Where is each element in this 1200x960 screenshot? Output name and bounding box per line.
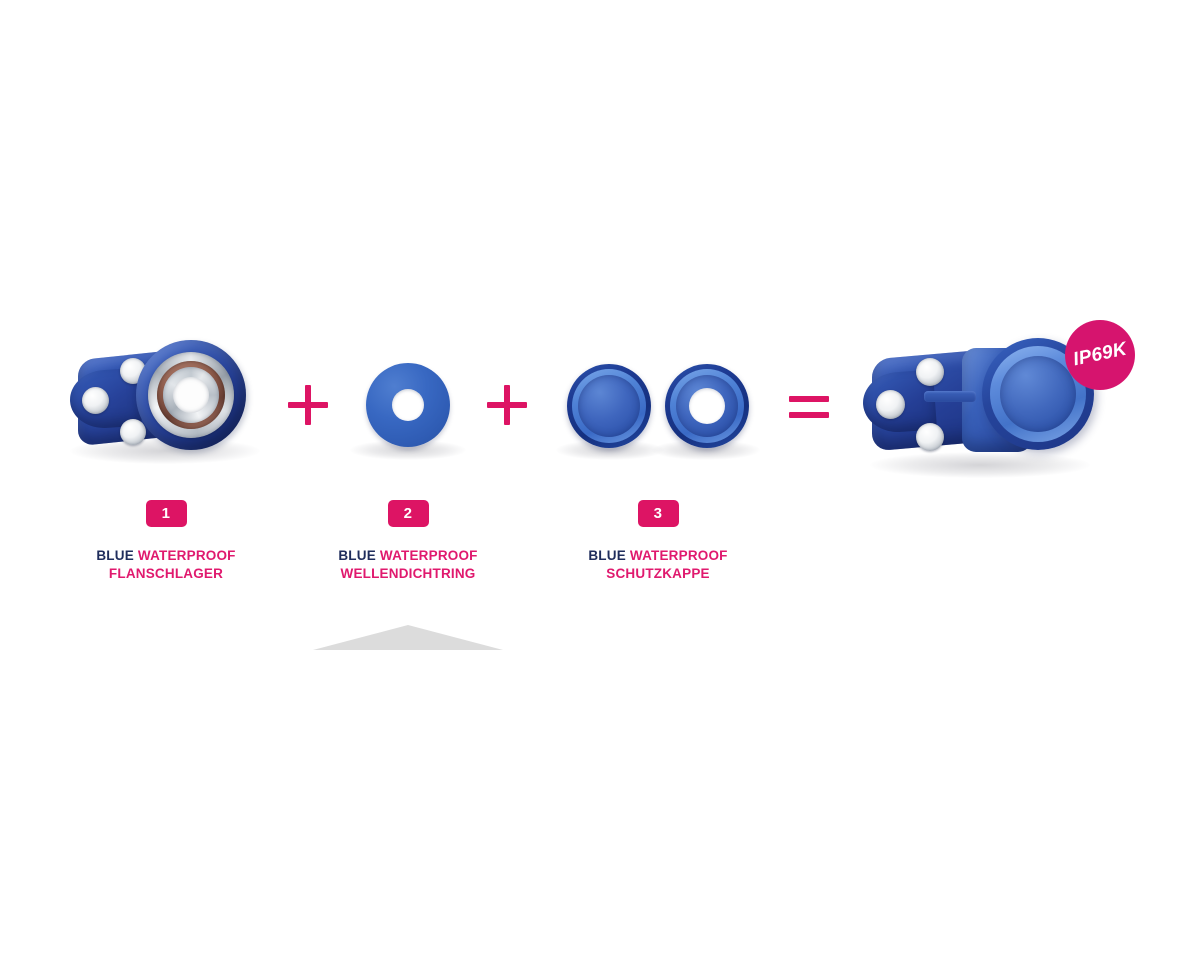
caption-line2: FLANSCHLAGER (109, 566, 223, 581)
caption-prefix: BLUE (588, 548, 626, 563)
caption-prefix: BLUE (96, 548, 134, 563)
bolt-hole (82, 387, 109, 414)
product-item-1[interactable]: 1 BLUE WATERPROOF FLANSCHLAGER (46, 320, 286, 583)
product-caption: BLUE WATERPROOF WELLENDICHTRING (288, 547, 528, 583)
caption-line2: WELLENDICHTRING (341, 566, 476, 581)
step-badge-wrapper: 3 (538, 500, 778, 527)
assembly-formula-diagram: 1 BLUE WATERPROOF FLANSCHLAGER 2 BLUE WA… (0, 0, 1200, 960)
step-number-badge[interactable]: 1 (146, 500, 187, 527)
bearing-seal (157, 361, 225, 429)
part-illustration-flange-bearing (46, 320, 286, 490)
bearing-inner-race (163, 367, 219, 423)
plus-operator-2 (487, 385, 527, 425)
bearing-outer-race (148, 352, 234, 438)
part-illustration-protective-caps (538, 320, 778, 490)
caption-highlight: WATERPROOF (138, 548, 236, 563)
bolt-hole (916, 358, 944, 386)
caption-line2: SCHUTZKAPPE (606, 566, 709, 581)
caption-highlight: WATERPROOF (630, 548, 728, 563)
section-caret-icon (313, 625, 503, 650)
caption-highlight: WATERPROOF (380, 548, 478, 563)
bearing-hub (136, 340, 246, 450)
caption-prefix: BLUE (338, 548, 376, 563)
assembly-cap-face (1000, 356, 1076, 432)
seal-ring-body (366, 363, 450, 447)
equals-operator (789, 396, 829, 418)
product-caption: BLUE WATERPROOF FLANSCHLAGER (46, 547, 286, 583)
ip69k-badge-label: IP69K (1071, 339, 1129, 372)
ip69k-rating-badge[interactable]: IP69K (1065, 320, 1135, 390)
bolt-hole (876, 390, 905, 419)
product-caption: BLUE WATERPROOF SCHUTZKAPPE (538, 547, 778, 583)
equals-bar-bottom (789, 412, 829, 418)
step-badge-wrapper: 1 (46, 500, 286, 527)
product-item-2[interactable]: 2 BLUE WATERPROOF WELLENDICHTRING (288, 320, 528, 583)
result-assembly[interactable]: IP69K (846, 320, 1146, 500)
cap-face (578, 375, 640, 437)
cap-center-hole (689, 388, 725, 424)
equals-bar-top (789, 396, 829, 402)
bolt-hole (120, 419, 146, 445)
plus-vertical-bar (504, 385, 510, 425)
protective-cap-open (665, 364, 749, 448)
step-number-badge[interactable]: 2 (388, 500, 429, 527)
step-badge-wrapper: 2 (288, 500, 528, 527)
assembly-rib (924, 391, 976, 402)
step-number-badge[interactable]: 3 (638, 500, 679, 527)
protective-cap-closed (567, 364, 651, 448)
bearing-bore (173, 377, 209, 413)
product-item-3[interactable]: 3 BLUE WATERPROOF SCHUTZKAPPE (538, 320, 778, 583)
bolt-hole (916, 423, 944, 451)
seal-ring-bore (392, 389, 424, 421)
